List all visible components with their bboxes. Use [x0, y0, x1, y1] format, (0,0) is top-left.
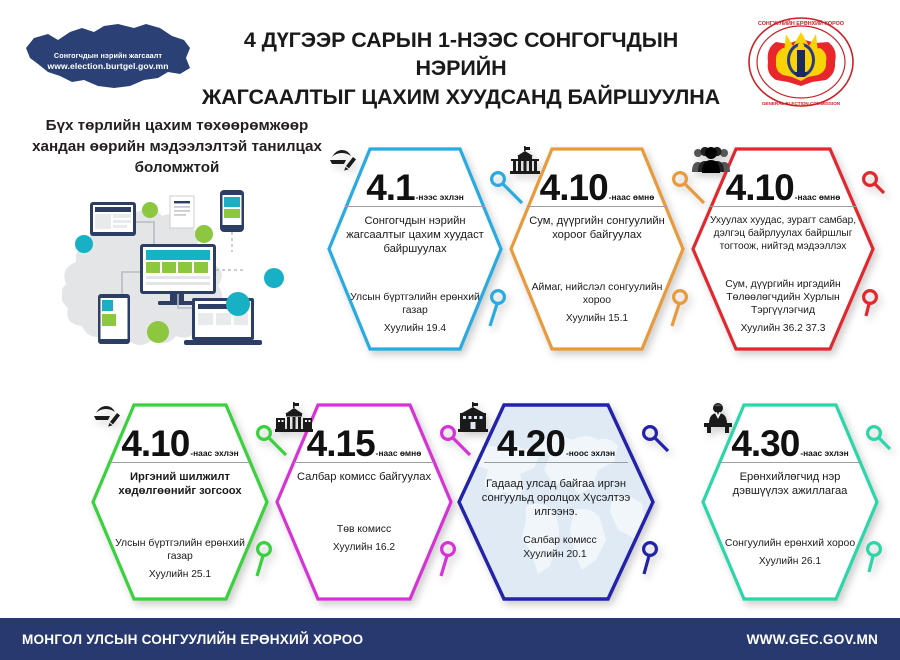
card-org-text: Салбар комисс — [523, 534, 596, 549]
card-date: 4.10 — [121, 428, 189, 461]
header-bar: Сонгогчдын нэрийн жагсаалт www.election.… — [0, 0, 900, 112]
card-date: 4.10 — [540, 172, 608, 205]
card-org-text: Сум, дүүргийн иргэдийн Төлөөлөгчдийн Хур… — [707, 278, 860, 317]
card-org-text: Сонгуулийн ерөнхий хороо — [716, 537, 863, 550]
card-date: 4.1 — [366, 172, 414, 205]
mongolia-map-logo: Сонгогчдын нэрийн жагсаалт www.election.… — [18, 14, 198, 98]
footer-organization-name: МОНГОЛ УЛСЫН СОНГУУЛИЙН ЕРӨНХИЙ ХОРОО — [22, 632, 363, 647]
card-date-suffix: -наас эхлэн — [189, 448, 238, 461]
left-description-line3: боломжтой — [22, 158, 332, 179]
card-org-text: Аймаг, нийслэл сонгуулийн хороо — [524, 281, 669, 307]
card-org-text: Улсын бүртгэлийн ерөнхий газар — [342, 291, 487, 317]
card-law-text: Хуулийн 19.4 — [384, 323, 446, 334]
timeline-card-4-1[interactable]: 4.1 -нээс эхлэн Сонгогчдын нэрийн жагсаа… — [326, 146, 504, 352]
card-law-text: Хуулийн 15.1 — [566, 313, 628, 324]
map-logo-url: www.election.burtgel.gov.mn — [18, 62, 198, 72]
timeline-card-4-10-c[interactable]: 4.10 -наас эхлэн Иргэний шилжилт хөдөлгө… — [90, 402, 270, 602]
card-main-text: Салбар комисс байгуулах — [290, 470, 437, 484]
page-title: 4 ДҮГЭЭР САРЫН 1-НЭЭС СОНГОГЧДЫН НЭРИЙН … — [196, 26, 726, 111]
card-date-row: 4.30 -наас эхлэн — [720, 428, 861, 463]
card-org-text: Төв комисс — [290, 523, 437, 536]
page-title-line2: ЖАГСААЛТЫГ ЦАХИМ ХУУДСАНД БАЙРШУУЛНА — [196, 83, 726, 111]
left-description: Бүх төрлийн цахим төхөөрөмжөөр хандан өө… — [22, 116, 332, 179]
page-title-line1: 4 ДҮГЭЭР САРЫН 1-НЭЭС СОНГОГЧДЫН НЭРИЙН — [196, 26, 726, 83]
card-date: 4.10 — [726, 172, 794, 205]
svg-text:СОНГУУЛИЙН ЕРӨНХИЙ ХОРОО: СОНГУУЛИЙН ЕРӨНХИЙ ХОРОО — [758, 19, 844, 27]
card-date-row: 4.1 -нээс эхлэн — [345, 172, 484, 207]
card-date: 4.20 — [497, 428, 565, 461]
card-date-row: 4.10 -наас эхлэн — [110, 428, 251, 463]
footer-website-url[interactable]: WWW.GEC.GOV.MN — [747, 632, 878, 647]
footer-bar: МОНГОЛ УЛСЫН СОНГУУЛИЙН ЕРӨНХИЙ ХОРОО WW… — [0, 618, 900, 660]
card-law-text: Хуулийн 25.1 — [149, 569, 211, 580]
card-date-suffix: -наас өмнө — [375, 448, 422, 461]
timeline-card-4-20[interactable]: 4.20 -ноос эхлэн Гадаад улсад байгаа ирг… — [456, 402, 656, 602]
card-date-suffix: -нээс эхлэн — [415, 192, 464, 205]
card-law-text: Хуулийн 20.1 — [523, 548, 596, 563]
devices-cloud-illustration — [62, 182, 344, 362]
card-law-text: Хуулийн 36.2 37.3 — [741, 323, 826, 334]
card-main-text: Ерөнхийлөгчид нэр дэвшүүлэх ажиллагаа — [716, 470, 863, 499]
card-date-suffix: -наас өмнө — [608, 192, 655, 205]
card-law-text: Хуулийн 26.1 — [759, 556, 821, 567]
svg-text:GENERAL ELECTION COMMISSION: GENERAL ELECTION COMMISSION — [762, 101, 841, 106]
card-date: 4.15 — [307, 428, 375, 461]
card-main-text: Сум, дүүргийн сонгуулийн хороог байгуула… — [524, 214, 669, 243]
timeline-card-4-30[interactable]: 4.30 -наас эхлэн Ерөнхийлөгчид нэр дэвшү… — [700, 402, 880, 602]
card-date-suffix: -наас өмнө — [794, 192, 841, 205]
card-law-text: Хуулийн 16.2 — [333, 542, 395, 553]
card-main-text: Ухуулах хуудас, зурагт самбар, дэлгэц ба… — [707, 214, 860, 253]
timeline-card-4-15[interactable]: 4.15 -наас өмнө Салбар комисс байгуулах … — [274, 402, 454, 602]
card-date-row: 4.20 -ноос эхлэн — [484, 428, 628, 463]
card-date-row: 4.10 -наас өмнө — [527, 172, 666, 207]
gec-seal-logo: СОНГУУЛИЙН ЕРӨНХИЙ ХОРОО GENERAL ELECTIO… — [746, 12, 856, 112]
left-description-line1: Бүх төрлийн цахим төхөөрөмжөөр — [22, 116, 332, 137]
map-logo-caption: Сонгогчдын нэрийн жагсаалт — [18, 52, 198, 60]
card-org-text: Улсын бүртгэлийн ерөнхий газар — [106, 537, 253, 563]
card-main-text: Гадаад улсад байгаа иргэн сонгуульд орол… — [479, 477, 634, 520]
card-main-text: Иргэний шилжилт хөдөлгөөнийг зогсоох — [106, 470, 253, 499]
card-date-row: 4.10 -наас өмнө — [710, 172, 856, 207]
timeline-card-4-10-b[interactable]: 4.10 -наас өмнө Ухуулах хуудас, зурагт с… — [690, 146, 876, 352]
left-description-line2: хандан өөрийн мэдээлэлтэй танилцах — [22, 137, 332, 158]
card-date-suffix: -ноос эхлэн — [565, 448, 615, 461]
card-date: 4.30 — [731, 428, 799, 461]
card-date-row: 4.15 -наас өмнө — [294, 428, 435, 463]
card-date-suffix: -наас эхлэн — [799, 448, 848, 461]
card-org-row: Салбар комисс Хуулийн 20.1 — [515, 534, 596, 563]
timeline-card-4-10-a[interactable]: 4.10 -наас өмнө Сум, дүүргийн сонгуулийн… — [508, 146, 686, 352]
card-main-text: Сонгогчдын нэрийн жагсаалтыг цахим хууда… — [342, 214, 487, 257]
